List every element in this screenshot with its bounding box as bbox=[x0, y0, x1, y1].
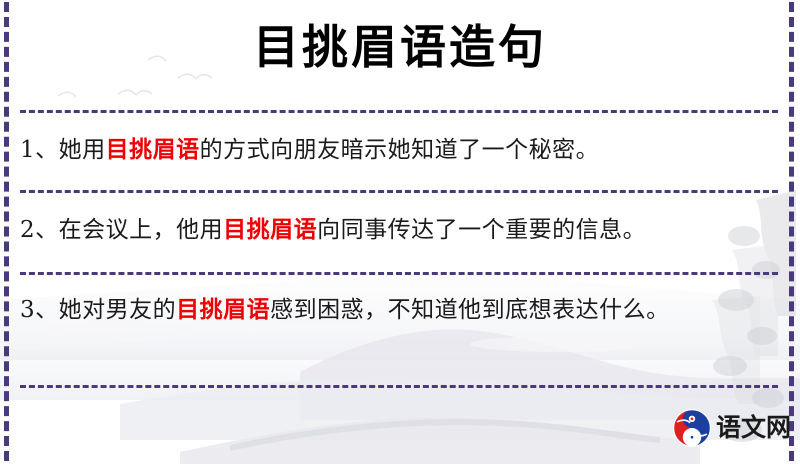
site-logo[interactable]: 语文网 bbox=[672, 408, 791, 448]
sentence-2-after: 向同事传达了一个重要的信息。 bbox=[317, 217, 646, 243]
sentence-1: 1、她用目挑眉语的方式向朋友暗示她知道了一个秘密。 bbox=[20, 128, 776, 172]
sentence-2: 2、在会议上，他用目挑眉语向同事传达了一个重要的信息。 bbox=[20, 208, 776, 252]
sentence-1-before: 她用 bbox=[59, 137, 106, 163]
divider-4 bbox=[20, 385, 778, 388]
sentence-1-number: 1、 bbox=[20, 137, 59, 163]
yin-yang-fish-icon bbox=[672, 408, 712, 448]
sentence-3-number: 3、 bbox=[20, 297, 59, 323]
divider-1 bbox=[20, 110, 778, 113]
sentence-1-idiom: 目挑眉语 bbox=[106, 136, 200, 163]
sentence-3: 3、她对男友的目挑眉语感到困惑，不知道他到底想表达什么。 bbox=[20, 288, 776, 332]
sentence-3-before: 她对男友的 bbox=[59, 297, 177, 323]
sentence-2-number: 2、 bbox=[20, 217, 59, 243]
slide-content: 目挑眉语造句 1、她用目挑眉语的方式向朋友暗示她知道了一个秘密。 2、在会议上，… bbox=[0, 0, 800, 464]
sentence-3-after: 感到困惑，不知道他到底想表达什么。 bbox=[270, 297, 670, 323]
page-title: 目挑眉语造句 bbox=[0, 16, 800, 78]
divider-2 bbox=[20, 190, 778, 193]
sentence-2-idiom: 目挑眉语 bbox=[223, 216, 317, 243]
site-logo-text: 语文网 bbox=[716, 414, 791, 442]
sentence-1-after: 的方式向朋友暗示她知道了一个秘密。 bbox=[200, 137, 600, 163]
divider-3 bbox=[20, 272, 778, 275]
sentence-2-before: 在会议上，他用 bbox=[59, 217, 224, 243]
slide-canvas: 目挑眉语造句 1、她用目挑眉语的方式向朋友暗示她知道了一个秘密。 2、在会议上，… bbox=[0, 0, 800, 464]
sentence-3-idiom: 目挑眉语 bbox=[176, 296, 270, 323]
